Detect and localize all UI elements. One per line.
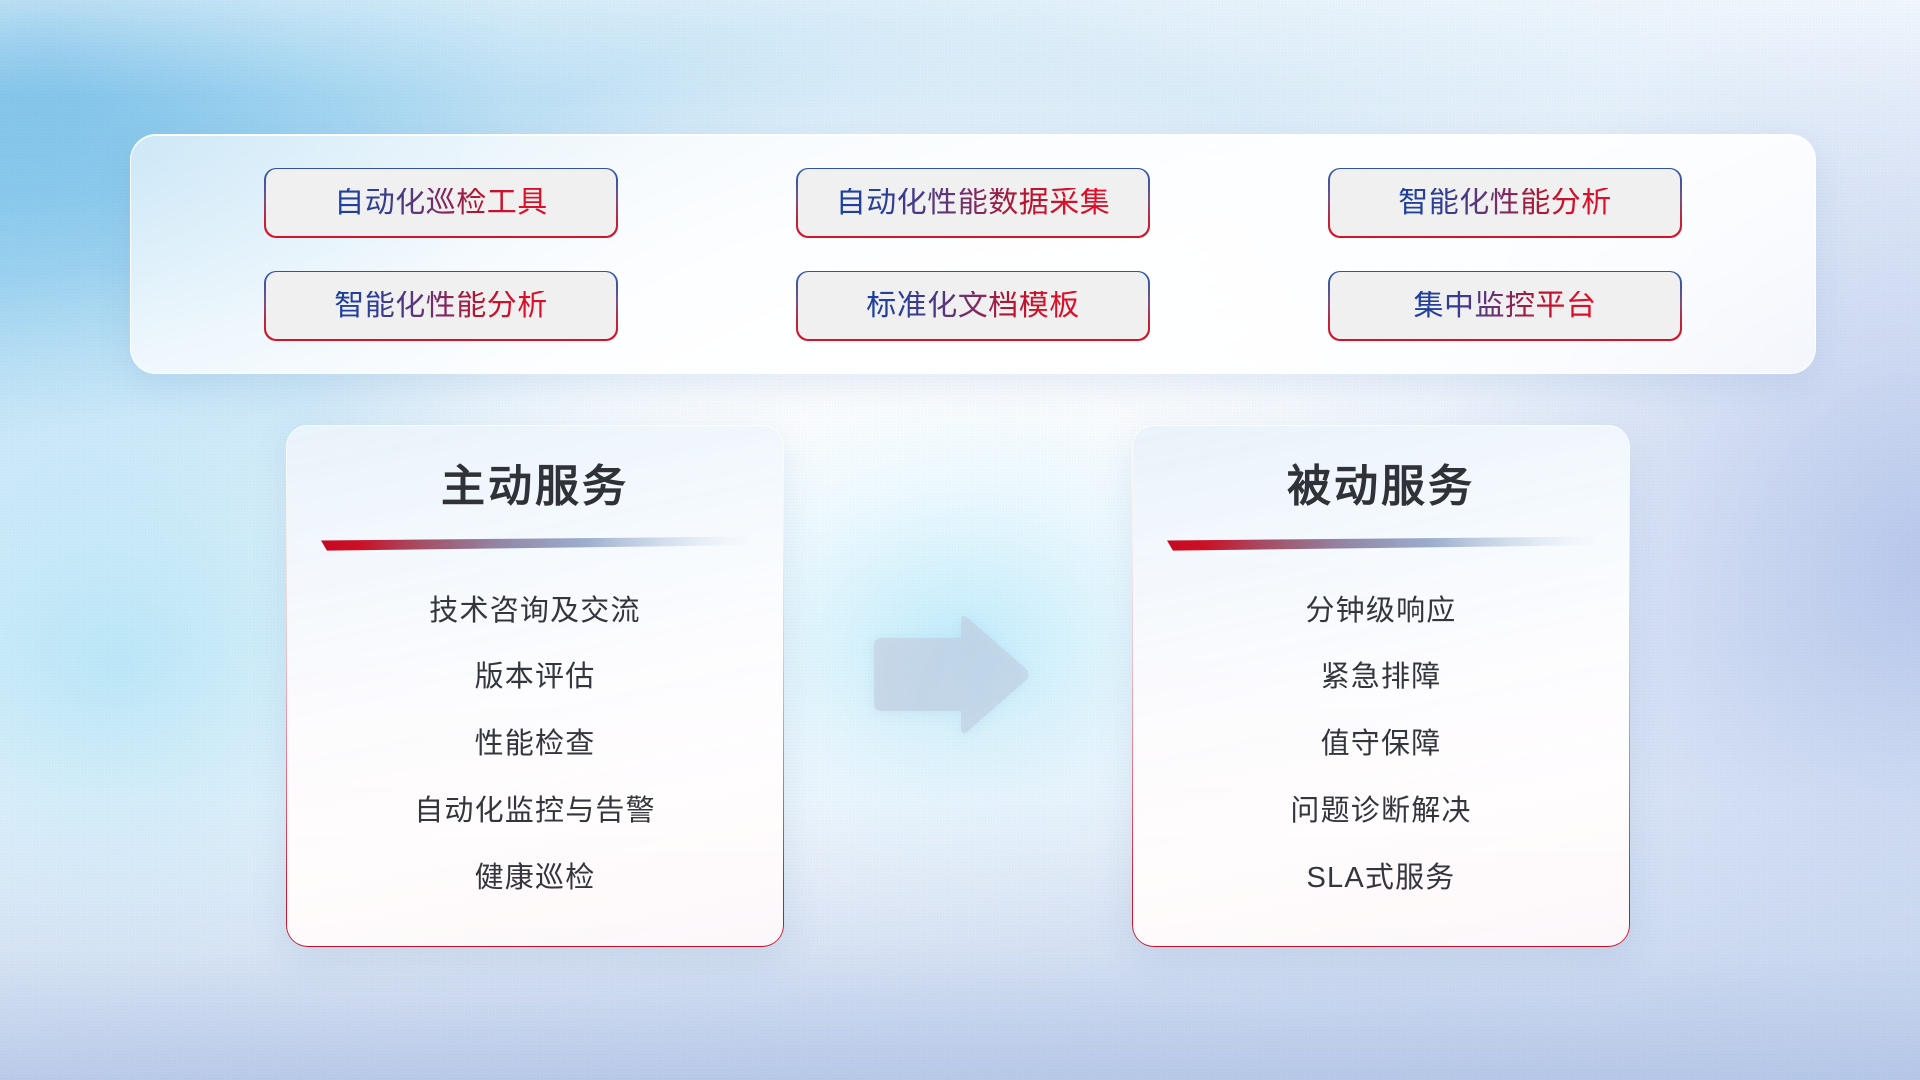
service-card-title: 被动服务: [1287, 462, 1475, 511]
list-item: 紧急排障: [1321, 660, 1442, 695]
capability-pill-label: 自动化性能数据采集: [836, 188, 1111, 218]
list-item: 值守保障: [1321, 727, 1442, 762]
arrow-right-icon: [866, 612, 1032, 738]
service-card-active: 主动服务 技术咨询及交流 版本评估: [286, 425, 784, 947]
capability-pill-label: 智能化性能分析: [1398, 188, 1612, 218]
service-card-passive: 被动服务 分钟级响应 紧急排障: [1132, 425, 1630, 947]
capability-pill-surface: 自动化性能数据采集: [798, 169, 1149, 236]
capability-pill-surface: 自动化巡检工具: [266, 169, 617, 236]
capability-pill-intelligent-performance-analysis-a[interactable]: 智能化性能分析: [1328, 168, 1682, 238]
capability-pill-surface: 智能化性能分析: [1330, 169, 1681, 236]
list-item: 性能检查: [475, 727, 596, 762]
card-title-divider: [321, 536, 748, 554]
capability-pill-automated-inspection-tool[interactable]: 自动化巡检工具: [264, 168, 618, 238]
capability-pill-label: 自动化巡检工具: [334, 188, 548, 218]
capabilities-panel: 自动化巡检工具 自动化性能数据采集 智能化性能分析 智能化性能分析 标准化文档模…: [130, 134, 1816, 374]
capability-pill-surface: 集中监控平台: [1330, 272, 1681, 339]
slide-canvas: 自动化巡检工具 自动化性能数据采集 智能化性能分析 智能化性能分析 标准化文档模…: [0, 0, 1920, 1080]
capability-pill-standardized-document-template[interactable]: 标准化文档模板: [796, 271, 1150, 341]
card-title-divider: [1167, 536, 1594, 554]
list-item: 技术咨询及交流: [429, 594, 640, 629]
service-card-title: 主动服务: [441, 462, 629, 511]
capability-pill-intelligent-performance-analysis-b[interactable]: 智能化性能分析: [264, 271, 618, 341]
list-item: 健康巡检: [475, 861, 596, 896]
capability-pill-centralized-monitoring-platform[interactable]: 集中监控平台: [1328, 271, 1682, 341]
capability-pill-label: 标准化文档模板: [866, 291, 1080, 321]
list-item: 分钟级响应: [1305, 594, 1456, 629]
service-card-list: 分钟级响应 紧急排障 值守保障 问题诊断解决 SLA式服务: [1167, 560, 1594, 920]
service-card-surface: 被动服务 分钟级响应 紧急排障: [1133, 426, 1628, 945]
capability-pill-surface: 标准化文档模板: [798, 272, 1149, 339]
list-item: SLA式服务: [1306, 861, 1455, 896]
list-item: 版本评估: [475, 660, 596, 695]
list-item: 自动化监控与告警: [414, 794, 656, 829]
service-card-list: 技术咨询及交流 版本评估 性能检查 自动化监控与告警 健康巡检: [321, 560, 748, 920]
service-card-surface: 主动服务 技术咨询及交流 版本评估: [287, 426, 782, 945]
list-item: 问题诊断解决: [1290, 794, 1471, 829]
capability-pill-surface: 智能化性能分析: [266, 272, 617, 339]
capability-pill-label: 集中监控平台: [1414, 291, 1597, 321]
capability-pill-label: 智能化性能分析: [334, 291, 548, 321]
capability-pill-automated-performance-data-collection[interactable]: 自动化性能数据采集: [796, 168, 1150, 238]
